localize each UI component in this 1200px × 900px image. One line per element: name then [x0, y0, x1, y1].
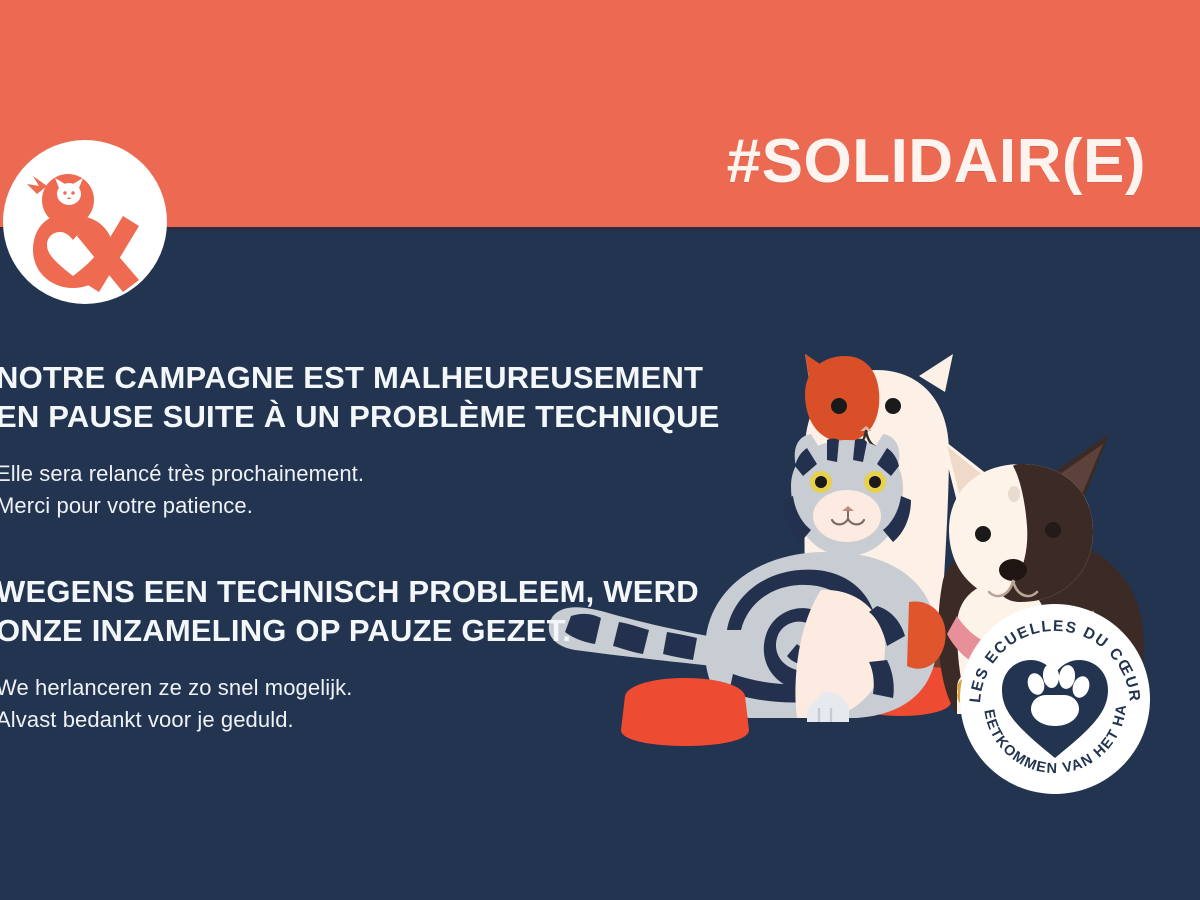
tabby-cat-right-eye	[864, 471, 886, 493]
dutch-headline: WEGENS EEN TECHNISCH PROBLEEM, WERD ONZE…	[0, 572, 699, 650]
dutch-headline-line-2: ONZE INZAMELING OP PAUZE GEZET.	[0, 611, 699, 650]
charity-seal-badge: LES ECUELLES DU CŒUR DE EETKOMMEN VAN HE…	[958, 602, 1152, 796]
french-subcopy: Elle sera relancé très prochainement. Me…	[0, 458, 720, 522]
french-headline-line-2: EN PAUSE SUITE À UN PROBLÈME TECHNIQUE	[0, 397, 720, 436]
persian-cat-right-eye	[885, 398, 901, 414]
french-headline: NOTRE CAMPAGNE EST MALHEUREUSEMENT EN PA…	[0, 358, 720, 436]
french-subcopy-line-2: Merci pour votre patience.	[0, 490, 720, 522]
organisation-logo	[3, 140, 167, 304]
persian-cat-left-eye	[831, 398, 847, 414]
dutch-subcopy-line-2: Alvast bedankt voor je geduld.	[0, 704, 699, 736]
dog-right-eye	[1045, 522, 1061, 538]
dog-left-eye	[975, 526, 991, 542]
ampersand-cat-heart-icon	[27, 174, 139, 292]
french-copy-block: NOTRE CAMPAGNE EST MALHEUREUSEMENT EN PA…	[0, 358, 720, 522]
tabby-cat-left-eye	[810, 471, 832, 493]
french-subcopy-line-1: Elle sera relancé très prochainement.	[0, 458, 720, 490]
campaign-notice-banner: #SOLIDAIR(E) NOTRE CAMPAGNE EST MALHEURE…	[0, 0, 1200, 900]
dutch-headline-line-1: WEGENS EEN TECHNISCH PROBLEEM, WERD	[0, 572, 699, 611]
dutch-subcopy-line-1: We herlanceren ze zo snel mogelijk.	[0, 672, 699, 704]
dutch-subcopy: We herlanceren ze zo snel mogelijk. Alva…	[0, 672, 699, 736]
french-headline-line-1: NOTRE CAMPAGNE EST MALHEUREUSEMENT	[0, 358, 720, 397]
campaign-hashtag: #SOLIDAIR(E)	[727, 131, 1146, 193]
dutch-copy-block: WEGENS EEN TECHNISCH PROBLEEM, WERD ONZE…	[0, 572, 699, 736]
